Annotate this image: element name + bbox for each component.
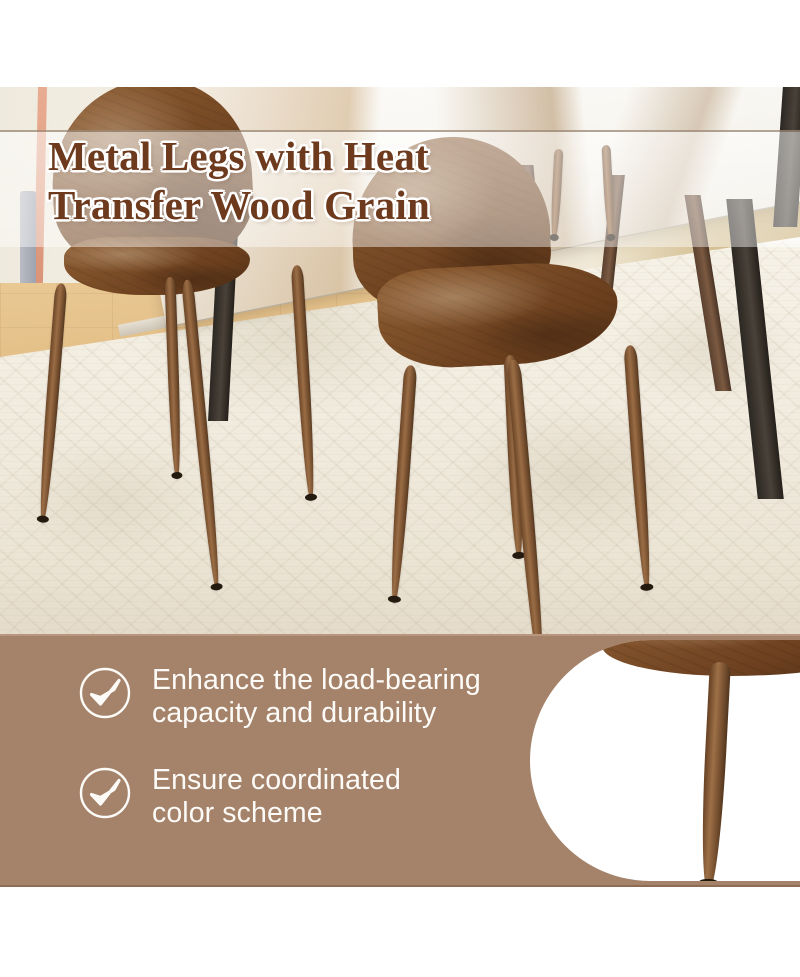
- list-item: Ensure coordinated color scheme: [78, 764, 518, 830]
- chair-leg-closeup: [698, 662, 731, 881]
- list-item-label: Enhance the load-bearing capacity and du…: [152, 664, 481, 730]
- panel-bottom-edge: [0, 885, 800, 887]
- chair-leg-closeup-inset: [530, 640, 800, 881]
- headline-line-2: Transfer Wood Grain: [48, 181, 568, 230]
- check-circle-icon: [78, 666, 132, 720]
- headline: Metal Legs with Heat Transfer Wood Grain: [48, 132, 568, 230]
- check-circle-icon: [78, 766, 132, 820]
- list-item-label: Ensure coordinated color scheme: [152, 764, 401, 830]
- panel-top-edge: [0, 634, 800, 636]
- feature-bullet-list: Enhance the load-bearing capacity and du…: [78, 664, 518, 864]
- list-item: Enhance the load-bearing capacity and du…: [78, 664, 518, 730]
- chair-seat-closeup: [602, 640, 800, 676]
- headline-line-1: Metal Legs with Heat: [48, 132, 568, 181]
